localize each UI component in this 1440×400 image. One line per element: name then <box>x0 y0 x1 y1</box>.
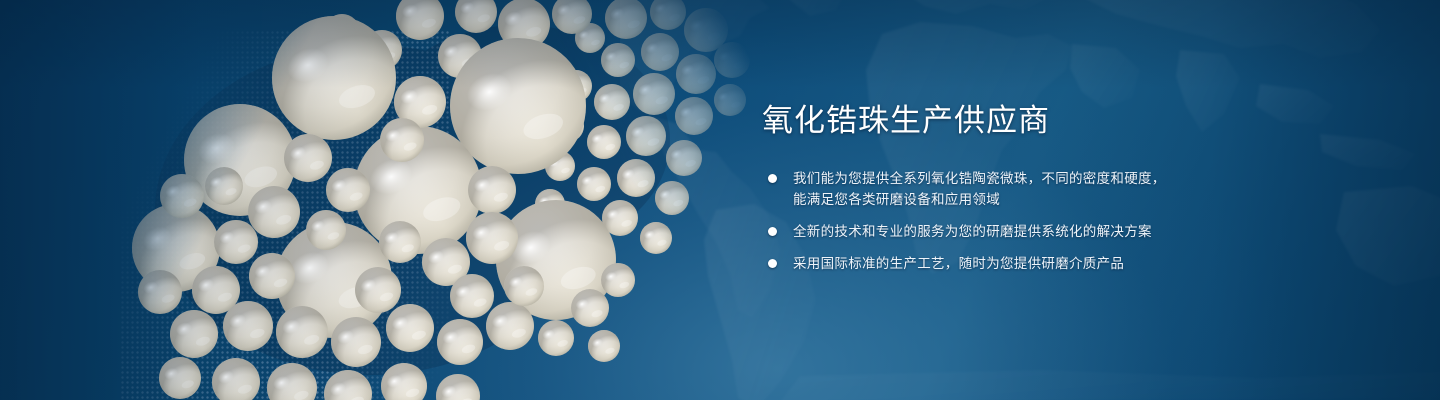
list-item: 我们能为您提供全系列氧化锆陶瓷微珠，不同的密度和硬度， 能满足您各类研磨设备和应… <box>762 168 1322 210</box>
list-item: 采用国际标准的生产工艺，随时为您提供研磨介质产品 <box>762 253 1322 274</box>
dot-bullet-icon <box>768 227 777 236</box>
hero-banner: 氧化锆珠生产供应商 我们能为您提供全系列氧化锆陶瓷微珠，不同的密度和硬度， 能满… <box>0 0 1440 400</box>
feature-list: 我们能为您提供全系列氧化锆陶瓷微珠，不同的密度和硬度， 能满足您各类研磨设备和应… <box>762 168 1322 274</box>
dot-bullet-icon <box>768 259 777 268</box>
bullet-text-line1: 全新的技术和专业的服务为您的研磨提供系统化的解决方案 <box>793 224 1152 239</box>
bullet-text-line1: 采用国际标准的生产工艺，随时为您提供研磨介质产品 <box>793 256 1124 271</box>
banner-copy: 氧化锆珠生产供应商 我们能为您提供全系列氧化锆陶瓷微珠，不同的密度和硬度， 能满… <box>762 104 1322 274</box>
page-title: 氧化锆珠生产供应商 <box>762 104 1322 138</box>
dot-bullet-icon <box>768 174 777 183</box>
bullet-text-line2: 能满足您各类研磨设备和应用领域 <box>793 189 1322 210</box>
bullet-text-line1: 我们能为您提供全系列氧化锆陶瓷微珠，不同的密度和硬度， <box>793 171 1166 186</box>
list-item: 全新的技术和专业的服务为您的研磨提供系统化的解决方案 <box>762 221 1322 242</box>
